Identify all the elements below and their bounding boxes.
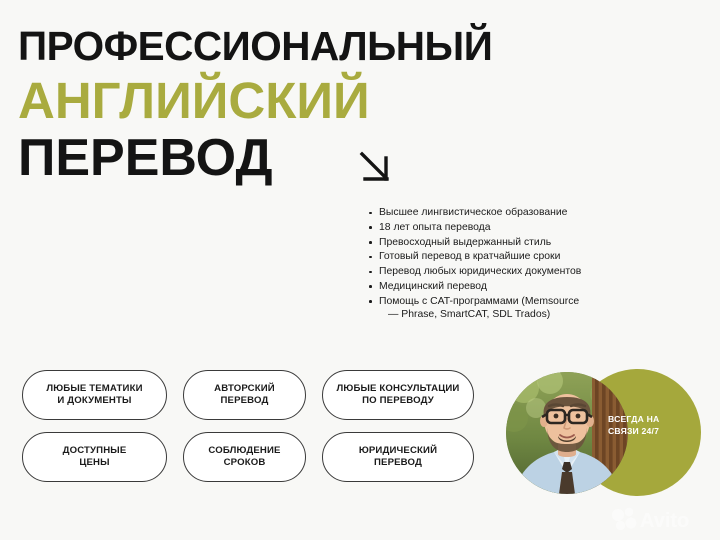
headline-line-1: ПРОФЕССИОНАЛЬНЫЙ — [18, 26, 488, 67]
pill-label-line1: ЛЮБЫЕ ТЕМАТИКИ — [46, 383, 142, 394]
features-list: Высшее лингвистическое образование 18 ле… — [368, 206, 668, 323]
feature-text-continuation: — Phrase, SmartCAT, SDL Trados) — [379, 308, 668, 321]
feature-text: Помощь с CAT-программами (Memsource — [379, 296, 579, 307]
avito-wordmark: Avito — [640, 510, 689, 532]
list-item: Высшее лингвистическое образование — [368, 206, 668, 219]
pill-any-topics-and-documents[interactable]: ЛЮБЫЕ ТЕМАТИКИ И ДОКУМЕНТЫ — [22, 370, 167, 420]
pill-label-line2: ПЕРЕВОД — [374, 457, 422, 468]
list-item: Помощь с CAT-программами (Memsource — Ph… — [368, 295, 668, 322]
pill-deadline-compliance[interactable]: СОБЛЮДЕНИЕ СРОКОВ — [183, 432, 306, 482]
service-pill-grid: ЛЮБЫЕ ТЕМАТИКИ И ДОКУМЕНТЫ АВТОРСКИЙ ПЕР… — [22, 370, 492, 494]
pill-authorial-translation[interactable]: АВТОРСКИЙ ПЕРЕВОД — [183, 370, 306, 420]
pill-label-line2: И ДОКУМЕНТЫ — [57, 395, 131, 406]
headline-line-3: ПЕРЕВОД — [18, 132, 488, 184]
pill-affordable-prices[interactable]: ДОСТУПНЫЕ ЦЕНЫ — [22, 432, 167, 482]
pill-row-2: ДОСТУПНЫЕ ЦЕНЫ СОБЛЮДЕНИЕ СРОКОВ ЮРИДИЧЕ… — [22, 432, 492, 482]
feature-text: Высшее лингвистическое образование — [379, 207, 567, 218]
feature-text: Готовый перевод в кратчайшие сроки — [379, 251, 560, 262]
pill-label-line1: СОБЛЮДЕНИЕ — [208, 445, 280, 456]
arrow-down-right-icon — [355, 146, 399, 190]
list-item: Готовый перевод в кратчайшие сроки — [368, 250, 668, 263]
feature-text: Перевод любых юридических документов — [379, 266, 581, 277]
pill-legal-translation[interactable]: ЮРИДИЧЕСКИЙ ПЕРЕВОД — [322, 432, 474, 482]
pill-label-line2: ЦЕНЫ — [79, 457, 109, 468]
media-block: ВСЕГДА НА СВЯЗИ 24/7 — [506, 369, 710, 499]
pill-label-line1: ЮРИДИЧЕСКИЙ — [359, 445, 437, 456]
pill-label-line1: АВТОРСКИЙ — [214, 383, 275, 394]
headline-line-2: АНГЛИЙСКИЙ — [18, 75, 488, 126]
pill-label-line1: ДОСТУПНЫЕ — [63, 445, 127, 456]
list-item: Превосходный выдержанный стиль — [368, 236, 668, 249]
ad-canvas: ПРОФЕССИОНАЛЬНЫЙ АНГЛИЙСКИЙ ПЕРЕВОД Высш… — [0, 0, 720, 540]
pill-any-translation-consultations[interactable]: ЛЮБЫЕ КОНСУЛЬТАЦИИ ПО ПЕРЕВОДУ — [322, 370, 474, 420]
badge-text: ВСЕГДА НА СВЯЗИ 24/7 — [608, 414, 688, 437]
avito-watermark: Avito — [610, 506, 706, 532]
page-title: ПРОФЕССИОНАЛЬНЫЙ АНГЛИЙСКИЙ ПЕРЕВОД — [18, 26, 488, 184]
badge-line-1: ВСЕГДА НА — [608, 414, 659, 424]
list-item: Медицинский перевод — [368, 280, 668, 293]
feature-text: Медицинский перевод — [379, 281, 487, 292]
pill-label-line2: ПО ПЕРЕВОДУ — [362, 395, 434, 406]
pill-label-line2: ПЕРЕВОД — [220, 395, 268, 406]
feature-text: 18 лет опыта перевода — [379, 222, 491, 233]
feature-text: Превосходный выдержанный стиль — [379, 237, 551, 248]
badge-line-2: СВЯЗИ 24/7 — [608, 426, 659, 436]
list-item: Перевод любых юридических документов — [368, 265, 668, 278]
pill-label-line2: СРОКОВ — [224, 457, 266, 468]
list-item: 18 лет опыта перевода — [368, 221, 668, 234]
pill-label-line1: ЛЮБЫЕ КОНСУЛЬТАЦИИ — [337, 383, 460, 394]
pill-row-1: ЛЮБЫЕ ТЕМАТИКИ И ДОКУМЕНТЫ АВТОРСКИЙ ПЕР… — [22, 370, 492, 420]
